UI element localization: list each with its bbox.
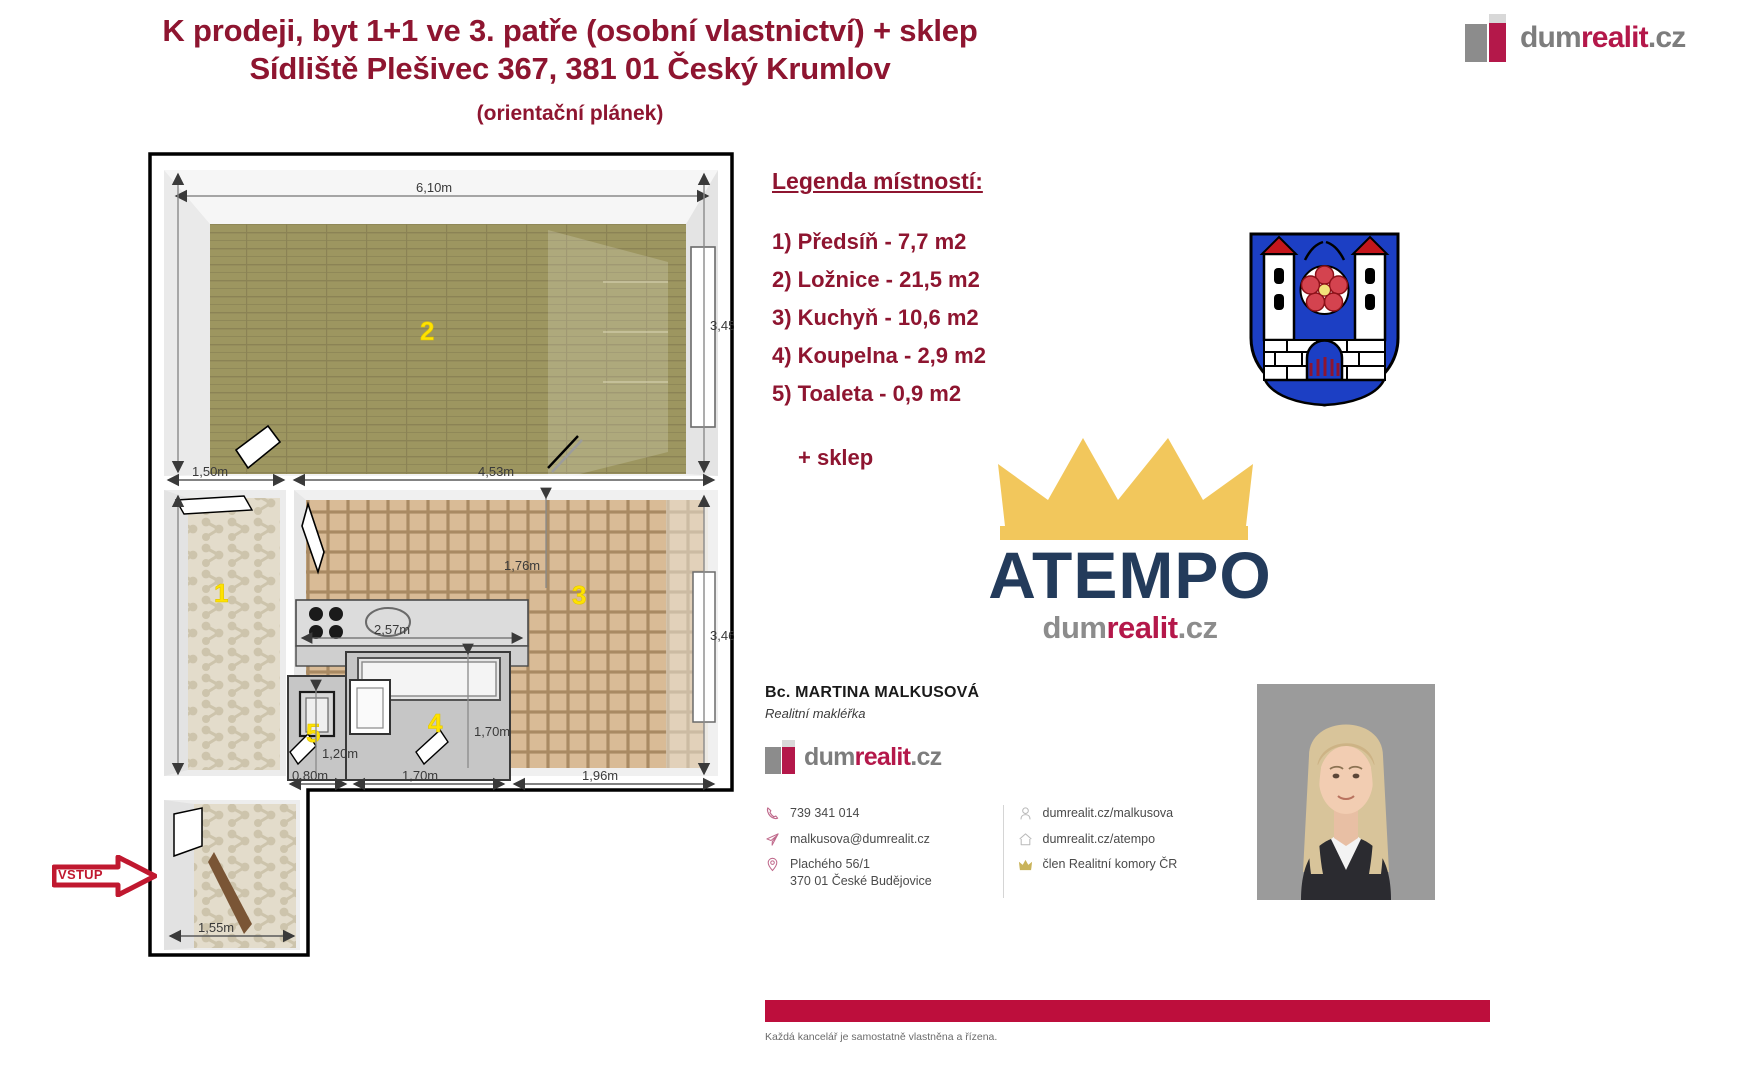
- dim-wc-height: 1,20m: [322, 746, 358, 761]
- room-number-toilet: 5: [306, 718, 320, 748]
- agent-brand-logo: dumrealit.cz: [765, 740, 941, 774]
- room-bathroom: 4: [346, 652, 510, 780]
- dim-right-lower: 3,46m: [710, 628, 734, 643]
- contact-block: 739 341 014 malkusova@dumrealit.cz Plach…: [765, 805, 1255, 898]
- legend-item-5: 5) Toaleta - 0,9 m2: [772, 381, 1102, 407]
- cesky-krumlov-coat-of-arms-icon: [1247, 230, 1402, 408]
- agent-brand-wordmark: dumrealit.cz: [804, 743, 941, 772]
- dim-cellar-width: 1,55m: [198, 920, 234, 935]
- agent-brand-cz: .cz: [910, 743, 941, 771]
- title-line-1: K prodeji, byt 1+1 ve 3. patře (osobní v…: [30, 12, 1110, 50]
- crown-icon-small: [1018, 857, 1033, 872]
- title-line-2: Sídliště Plešivec 367, 381 01 Český Krum…: [30, 50, 1110, 88]
- dim-kitchen-inner: 1,76m: [504, 558, 540, 573]
- home-icon: [1018, 832, 1033, 847]
- brand-logo-top: dumrealit.cz: [1465, 14, 1685, 62]
- contact-profile-link[interactable]: dumrealit.cz/malkusova: [1018, 805, 1256, 822]
- atempo-name: ATEMPO: [950, 542, 1310, 608]
- contact-office-link[interactable]: dumrealit.cz/atempo: [1018, 831, 1256, 848]
- contact-column-right: dumrealit.cz/malkusova dumrealit.cz/atem…: [1003, 805, 1256, 898]
- contact-email-text: malkusova@dumrealit.cz: [790, 831, 930, 848]
- legend-block: Legenda místností: 1) Předsíň - 7,7 m2 2…: [772, 168, 1102, 471]
- atempo-sub-cz: .cz: [1178, 610, 1218, 645]
- room-number-bathroom: 4: [428, 708, 443, 738]
- map-pin-icon: [765, 857, 780, 872]
- contact-address-text: Plachého 56/1 370 01 České Budějovice: [790, 856, 932, 889]
- agent-brand-dum: dum: [804, 743, 855, 771]
- room-bedroom: 2: [164, 170, 718, 482]
- floor-plan: 2 1: [148, 152, 734, 957]
- dim-kitchen-width: 1,96m: [582, 768, 618, 783]
- contact-profile-text: dumrealit.cz/malkusova: [1043, 805, 1174, 822]
- entrance-label: VSTUP: [58, 867, 103, 882]
- room-toilet: 5: [288, 676, 346, 780]
- user-icon: [1018, 806, 1033, 821]
- contact-address: Plachého 56/1 370 01 České Budějovice: [765, 856, 1003, 889]
- dumrealit-mark-small-icon: [765, 740, 797, 774]
- flyer-page: K prodeji, byt 1+1 ve 3. patře (osobní v…: [0, 0, 1739, 1080]
- room-number-bedroom: 2: [420, 316, 434, 346]
- atempo-subbrand: dumrealit.cz: [950, 610, 1310, 646]
- title-subtitle: (orientační plánek): [30, 102, 1110, 126]
- dim-kitchen-counter: 2,57m: [374, 622, 410, 637]
- contact-address-line1: Plachého 56/1: [790, 857, 870, 871]
- contact-column-left: 739 341 014 malkusova@dumrealit.cz Plach…: [765, 805, 1003, 898]
- contact-phone[interactable]: 739 341 014: [765, 805, 1003, 822]
- legend-heading: Legenda místností:: [772, 168, 1102, 195]
- dumrealit-mark-icon: [1465, 14, 1511, 62]
- room-hall: 1: [164, 490, 286, 776]
- atempo-sub-dum: dum: [1043, 610, 1107, 645]
- dim-mid-right: 4,53m: [478, 464, 514, 479]
- dim-bath-width: 1,70m: [402, 768, 438, 783]
- brand-text-realit: realit: [1581, 21, 1648, 54]
- contact-office-text: dumrealit.cz/atempo: [1043, 831, 1156, 848]
- dim-mid-left: 1,50m: [192, 464, 228, 479]
- brand-text-cz: .cz: [1648, 21, 1686, 54]
- agent-name: Bc. MARTINA MALKUSOVÁ: [765, 684, 1265, 702]
- room-number-hall: 1: [214, 578, 228, 608]
- crown-icon: [980, 430, 1280, 540]
- dim-bath-height: 1,70m: [474, 724, 510, 739]
- footer-disclaimer: Každá kancelář je samostatně vlastněna a…: [765, 1031, 997, 1043]
- legend-item-2: 2) Ložnice - 21,5 m2: [772, 267, 1102, 293]
- room-number-kitchen: 3: [572, 580, 586, 610]
- phone-icon: [765, 806, 780, 821]
- legend-item-1: 1) Předsíň - 7,7 m2: [772, 229, 1102, 255]
- dim-right-upper: 3,45m: [710, 318, 734, 333]
- agent-photo: [1257, 684, 1435, 900]
- contact-phone-text: 739 341 014: [790, 805, 860, 822]
- contact-address-line2: 370 01 České Budějovice: [790, 874, 932, 888]
- contact-membership: člen Realitní komory ČR: [1018, 856, 1256, 873]
- agent-card: Bc. MARTINA MALKUSOVÁ Realitní makléřka: [765, 684, 1265, 721]
- dim-wc-width: 0,80m: [292, 768, 328, 783]
- brand-text-dum: dum: [1520, 21, 1581, 54]
- entrance-marker: VSTUP: [52, 855, 157, 897]
- agent-role: Realitní makléřka: [765, 706, 1265, 721]
- atempo-logo: ATEMPO dumrealit.cz: [950, 430, 1310, 646]
- agent-brand-realit: realit: [855, 743, 911, 771]
- brand-wordmark: dumrealit.cz: [1520, 21, 1685, 55]
- dim-top-width: 6,10m: [416, 180, 452, 195]
- paper-plane-icon: [765, 832, 780, 847]
- legend-item-4: 4) Koupelna - 2,9 m2: [772, 343, 1102, 369]
- legend-item-3: 3) Kuchyň - 10,6 m2: [772, 305, 1102, 331]
- atempo-sub-realit: realit: [1106, 610, 1177, 645]
- contact-email[interactable]: malkusova@dumrealit.cz: [765, 831, 1003, 848]
- page-title: K prodeji, byt 1+1 ve 3. patře (osobní v…: [30, 12, 1110, 126]
- contact-membership-text: člen Realitní komory ČR: [1043, 856, 1178, 873]
- footer-accent-bar: [765, 1000, 1490, 1022]
